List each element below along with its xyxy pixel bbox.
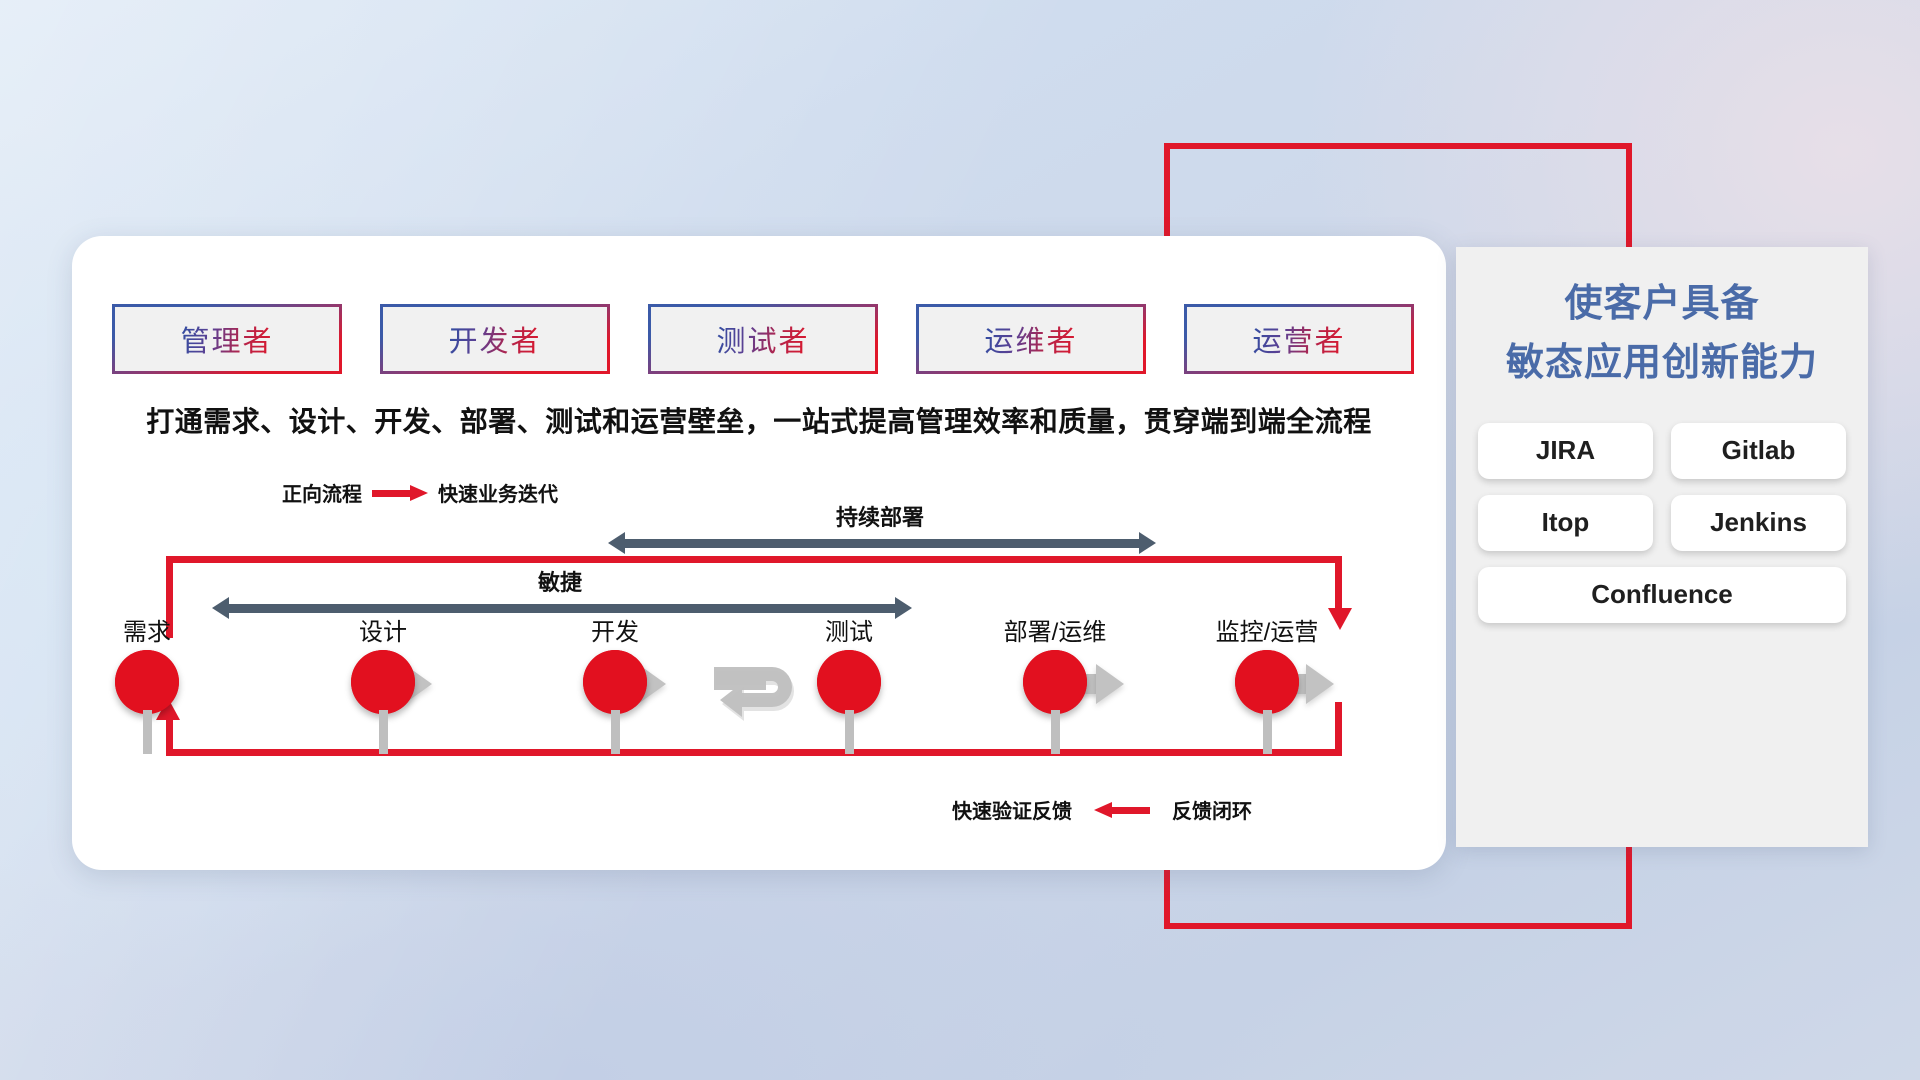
role-box-tester[interactable]: 测试者 [648,304,878,374]
stage-label: 监控/运营 [1192,612,1342,647]
panel-title: 使客户具备 敏态应用创新能力 [1456,247,1868,397]
stage-dot [115,650,179,714]
legend-forward-right-label: 快速业务迭代 [438,478,558,507]
stage-label: 测试 [774,612,924,647]
role-box-manager[interactable]: 管理者 [112,304,342,374]
u-turn-rework-icon [712,660,822,730]
tool-tag-jira[interactable]: JIRA [1478,423,1653,479]
stage-stem [611,710,620,754]
tool-tag-confluence[interactable]: Confluence [1478,567,1846,623]
tool-tag-group: JIRA Gitlab Itop Jenkins Confluence [1472,423,1852,623]
legend-feedback-loop: 快速验证反馈 反馈闭环 [952,795,1252,824]
outcome-panel: 使客户具备 敏态应用创新能力 JIRA Gitlab Itop Jenkins … [1456,247,1868,847]
role-box-ops[interactable]: 运维者 [916,304,1146,374]
stage-stem [1263,710,1272,754]
role-label: 运维者 [984,318,1077,360]
role-box-developer[interactable]: 开发者 [380,304,610,374]
legend-feedback-left-label: 快速验证反馈 [952,795,1072,824]
legend-forward-flow: 正向流程 快速业务迭代 [282,478,558,507]
stage-deploy-ops[interactable]: 部署/运维 [980,612,1130,754]
stage-requirements[interactable]: 需求 [72,612,222,754]
role-box-group: 管理者 开发者 测试者 运维者 运营者 [112,304,1414,374]
stage-stem [845,710,854,754]
right-red-arrow-icon [372,485,428,501]
stage-development[interactable]: 开发 [540,612,690,754]
span-arrow-continuous-deployment [608,532,1156,554]
stage-stem [1051,710,1060,754]
span-label-continuous-deployment: 持续部署 [600,500,1160,532]
panel-title-line1: 使客户具备 [1466,275,1858,334]
stage-dot [817,650,881,714]
page-headline: 打通需求、设计、开发、部署、测试和运营壁垒，一站式提高管理效率和质量，贯穿端到端… [72,400,1446,440]
stage-label: 开发 [540,612,690,647]
stage-design[interactable]: 设计 [308,612,458,754]
role-label: 测试者 [716,318,809,360]
stage-stem [143,710,152,754]
role-box-operations[interactable]: 运营者 [1184,304,1414,374]
panel-title-line2: 敏态应用创新能力 [1466,334,1858,393]
legend-feedback-right-label: 反馈闭环 [1172,795,1252,824]
stage-dot [1023,650,1087,714]
stage-label: 设计 [308,612,458,647]
tool-tag-itop[interactable]: Itop [1478,495,1653,551]
legend-forward-left-label: 正向流程 [282,478,362,507]
role-label: 管理者 [180,318,273,360]
stage-dot [351,650,415,714]
role-label: 运营者 [1252,318,1345,360]
left-red-arrow-icon [1094,802,1150,818]
stage-stem [379,710,388,754]
tool-tag-gitlab[interactable]: Gitlab [1671,423,1846,479]
role-label: 开发者 [448,318,541,360]
stage-dot [583,650,647,714]
stage-dot [1235,650,1299,714]
stage-label: 部署/运维 [980,612,1130,647]
stage-monitor-operations[interactable]: 监控/运营 [1192,612,1342,754]
tool-tag-jenkins[interactable]: Jenkins [1671,495,1846,551]
stage-label: 需求 [72,612,222,647]
